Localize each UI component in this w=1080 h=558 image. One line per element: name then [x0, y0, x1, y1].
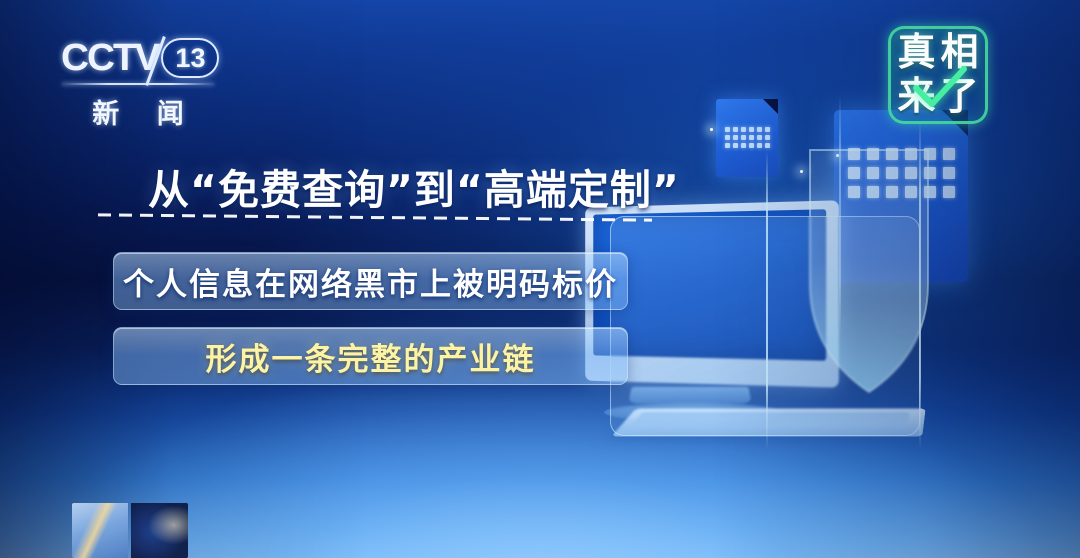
document-icon-small [716, 99, 778, 177]
cctv-channel-logo: CCTV 13 新 闻 [62, 36, 222, 128]
shield-icon [806, 146, 932, 396]
thumbnail-left-panel [72, 503, 128, 558]
sparkle-icon [710, 128, 713, 131]
broadcast-frame: CCTV 13 新 闻 真 相 来 了 从“免费查询”到“高端定制” 个人信息在… [0, 0, 1080, 558]
light-line [766, 150, 768, 450]
subtitle-bar-1: 个人信息在网络黑市上被明码标价 [113, 252, 628, 310]
monitor-screen [593, 209, 826, 361]
thumbnail-right-panel [131, 503, 188, 558]
cctv-channel-number: 13 [175, 45, 205, 72]
headline-text: 从“免费查询”到“高端定制” [148, 156, 680, 216]
cctv-channel-number-box: 13 [161, 38, 219, 78]
sparkle-icon [836, 154, 839, 157]
cctv-underline [62, 83, 214, 85]
subtitle-bar-2: 形成一条完整的产业链 [113, 327, 628, 385]
light-line [839, 96, 841, 336]
subtitle-bar-2-text: 形成一条完整的产业链 [114, 334, 627, 379]
cctv-subtitle: 新 闻 [62, 92, 214, 131]
cctv-logo-row: CCTV 13 [62, 36, 222, 80]
program-badge-char-1: 真 [895, 31, 938, 75]
monitor-stand [628, 387, 751, 404]
program-badge-char-3: 来 [895, 75, 938, 119]
light-line [919, 120, 921, 450]
document-icon-large [834, 110, 968, 282]
keyboard-icon [611, 408, 925, 436]
subtitle-bar-1-text: 个人信息在网络黑市上被明码标价 [114, 259, 627, 304]
document-large-cells [848, 148, 955, 198]
glass-panel-outline [610, 216, 920, 436]
program-badge-text: 真 相 来 了 [888, 26, 988, 124]
program-badge: 真 相 来 了 [888, 26, 988, 124]
channel-bumper-thumbnail [72, 503, 188, 558]
document-small-cells [725, 127, 770, 148]
program-badge-char-4: 了 [938, 75, 981, 119]
program-badge-char-2: 相 [938, 31, 981, 75]
cctv-brand-text: CCTV [61, 39, 158, 77]
monitor-base [601, 403, 788, 422]
sparkle-icon [800, 170, 803, 173]
